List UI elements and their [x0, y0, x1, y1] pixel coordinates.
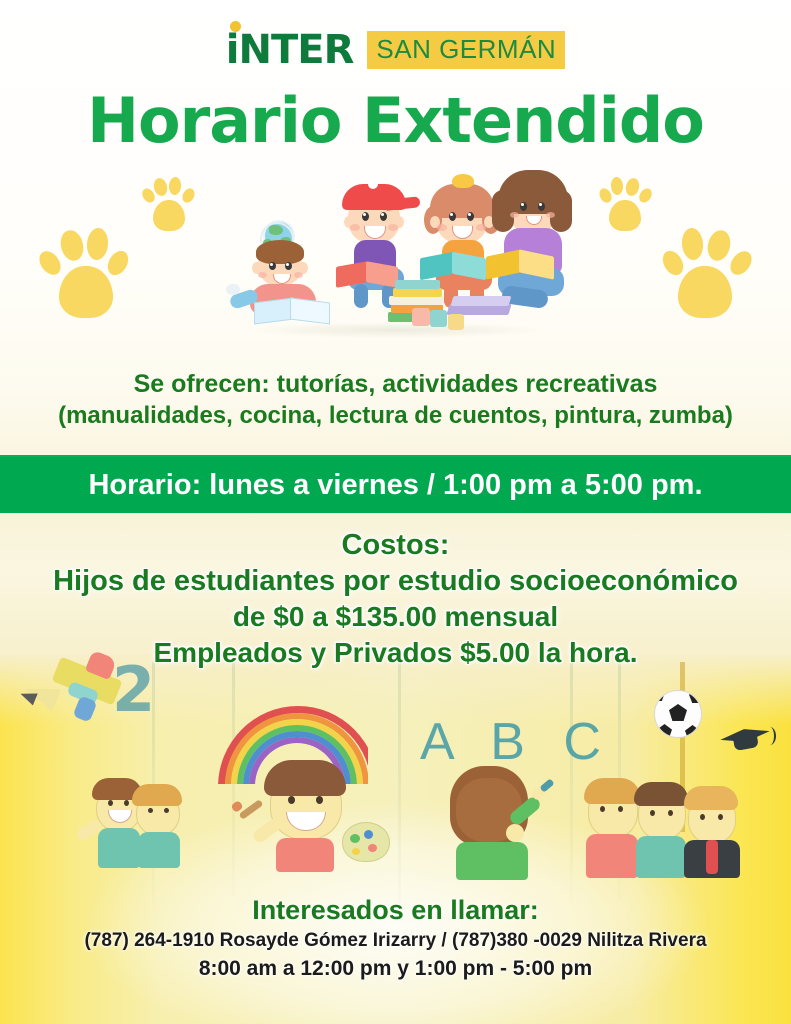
poster: iNTER SAN GERMÁN Horario Extendido	[0, 0, 791, 1024]
book-teal	[420, 250, 486, 278]
page-title: Horario Extendido	[0, 88, 791, 154]
contact-block: Interesados en llamar: (787) 264-1910 Ro…	[0, 893, 791, 983]
child-painter	[246, 762, 396, 872]
offer-line-2: (manualidades, cocina, lectura de cuento…	[0, 400, 791, 432]
paw-print-icon	[598, 178, 652, 234]
alphabet-block	[430, 310, 447, 327]
contact-hours: 8:00 am a 12:00 pm y 1:00 pm - 5:00 pm	[0, 955, 791, 983]
alphabet-block	[412, 308, 430, 326]
book-yellow	[486, 248, 554, 278]
children-group-left	[84, 778, 204, 868]
number-two-decoration: 2	[112, 660, 160, 720]
schedule-text: Horario: lunes a viernes / 1:00 pm a 5:0…	[0, 468, 791, 502]
costs-line-2: de $0 a $135.00 mensual	[0, 599, 791, 635]
book-open	[254, 296, 328, 322]
brand-header: iNTER SAN GERMÁN	[0, 27, 791, 73]
pencil-rocket-icon	[2, 652, 122, 722]
offer-text: Se ofrecen: tutorías, actividades recrea…	[0, 368, 791, 432]
campus-badge: SAN GERMÁN	[367, 31, 565, 69]
costs-line-1: Hijos de estudiantes por estudio socioec…	[0, 563, 791, 599]
alphabet-block	[448, 314, 464, 330]
contact-heading: Interesados en llamar:	[0, 893, 791, 927]
costs-heading: Costos:	[0, 527, 791, 563]
paw-print-icon	[143, 178, 197, 234]
soccer-ball-icon	[654, 690, 702, 738]
children-group-right	[586, 778, 766, 878]
contact-phones: (787) 264-1910 Rosayde Gómez Irizarry / …	[0, 927, 791, 955]
paw-print-icon	[662, 230, 748, 322]
costs-block: Costos: Hijos de estudiantes por estudio…	[0, 527, 791, 671]
child-writing-board	[440, 760, 550, 880]
children-reading-illustration	[236, 168, 556, 336]
logo-dot-icon	[230, 21, 241, 32]
inter-logo-text: iNTER	[226, 27, 354, 73]
inter-logo: iNTER	[226, 30, 354, 70]
graduation-cap-icon	[720, 725, 774, 753]
child-older-girl-reading	[494, 170, 572, 312]
paw-print-icon	[45, 230, 131, 322]
offer-line-1: Se ofrecen: tutorías, actividades recrea…	[0, 368, 791, 400]
